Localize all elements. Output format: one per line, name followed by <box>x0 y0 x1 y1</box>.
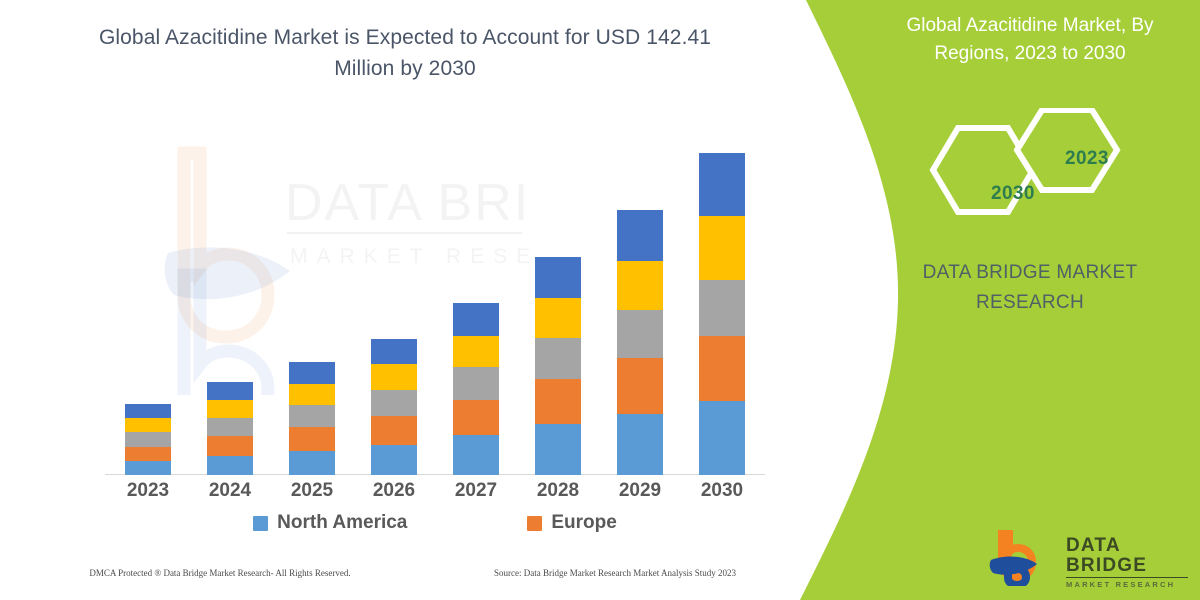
x-axis-label-2030: 2030 <box>685 480 759 502</box>
bar-segment <box>699 280 745 336</box>
footer: DMCA Protected ® Data Bridge Market Rese… <box>0 568 790 578</box>
bar-segment <box>617 261 663 310</box>
bar-segment <box>617 414 663 475</box>
bar-column <box>521 140 595 475</box>
bar-segment <box>289 451 335 475</box>
bar-segment <box>125 447 171 461</box>
data-bridge-logo: DATA BRIDGE MARKET RESEARCH <box>988 528 1198 586</box>
legend-label: Europe <box>551 512 616 534</box>
x-axis-label-2027: 2027 <box>439 480 513 502</box>
legend-item[interactable]: Europe <box>527 512 616 534</box>
x-axis-label-2028: 2028 <box>521 480 595 502</box>
bar-stack-2026 <box>371 339 417 475</box>
logo-name: DATA BRIDGE <box>1066 536 1198 576</box>
bar-stack-2023 <box>125 404 171 475</box>
bar-column <box>603 140 677 475</box>
bar-segment <box>617 358 663 414</box>
bar-segment <box>535 379 581 425</box>
hexagon-2023-label: 2023 <box>1065 148 1109 170</box>
brand-line-2: RESEARCH <box>870 288 1190 318</box>
bar-segment <box>371 339 417 364</box>
brand-name-block: DATA BRIDGE MARKET RESEARCH <box>870 258 1190 318</box>
bar-segment <box>207 382 253 400</box>
bar-segment <box>207 400 253 418</box>
bar-stack-2029 <box>617 210 663 475</box>
logo-mark <box>988 530 1060 586</box>
bar-segment <box>289 427 335 450</box>
bar-segment <box>289 362 335 383</box>
bar-column <box>111 140 185 475</box>
x-axis-label-2026: 2026 <box>357 480 431 502</box>
bar-stack-2024 <box>207 382 253 475</box>
bar-segment <box>617 210 663 261</box>
x-axis-labels: 20232024202520262027202820292030 <box>105 480 765 502</box>
bar-stack-2025 <box>289 362 335 475</box>
bar-column <box>275 140 349 475</box>
bar-segment <box>289 384 335 405</box>
bar-column <box>193 140 267 475</box>
bar-segment <box>207 418 253 436</box>
bar-segment <box>207 436 253 455</box>
bar-segment <box>289 405 335 427</box>
bar-segment <box>453 367 499 399</box>
bar-column <box>685 140 759 475</box>
bar-segment <box>371 390 417 416</box>
bar-segment <box>699 401 745 475</box>
x-axis-label-2024: 2024 <box>193 480 267 502</box>
bar-column <box>439 140 513 475</box>
hexagon-2030-label: 2030 <box>991 183 1035 205</box>
bar-segment <box>535 257 581 299</box>
bar-segment <box>699 216 745 280</box>
legend-swatch-icon <box>527 516 542 531</box>
page-title: Global Azacitidine Market is Expected to… <box>95 22 715 84</box>
logo-tagline: MARKET RESEARCH <box>1066 580 1198 589</box>
bar-segment <box>371 364 417 389</box>
chart-pane: Global Azacitidine Market is Expected to… <box>0 0 800 600</box>
bar-segment <box>371 445 417 475</box>
bar-segment <box>453 400 499 436</box>
bar-segment <box>453 303 499 335</box>
footer-dmca-text: DMCA Protected ® Data Bridge Market Rese… <box>0 568 440 578</box>
bar-chart <box>105 140 765 475</box>
bar-group <box>105 140 765 475</box>
bar-segment <box>535 338 581 379</box>
logo-divider <box>1066 577 1188 578</box>
right-panel-heading: Global Azacitidine Market, By Regions, 2… <box>870 12 1190 68</box>
bar-stack-2027 <box>453 303 499 475</box>
x-axis-label-2029: 2029 <box>603 480 677 502</box>
x-axis-label-2023: 2023 <box>111 480 185 502</box>
bar-segment <box>125 404 171 418</box>
legend-label: North America <box>277 512 407 534</box>
bar-segment <box>125 461 171 475</box>
brand-line-1: DATA BRIDGE MARKET <box>870 258 1190 288</box>
bar-segment <box>371 416 417 444</box>
right-panel: Global Azacitidine Market, By Regions, 2… <box>860 0 1200 600</box>
bar-column <box>357 140 431 475</box>
bar-segment <box>617 310 663 359</box>
bar-segment <box>535 298 581 338</box>
chart-legend: North AmericaEurope <box>105 512 765 534</box>
infographic-root: Global Azacitidine Market is Expected to… <box>0 0 1200 600</box>
hexagon-group: 2023 2030 <box>915 108 1155 226</box>
footer-source-text: Source: Data Bridge Market Research Mark… <box>440 568 790 578</box>
bar-stack-2028 <box>535 257 581 475</box>
legend-item[interactable]: North America <box>253 512 407 534</box>
legend-swatch-icon <box>253 516 268 531</box>
bar-segment <box>453 435 499 475</box>
bar-segment <box>699 153 745 216</box>
bar-segment <box>699 336 745 401</box>
bar-segment <box>453 336 499 367</box>
bar-segment <box>125 418 171 432</box>
bar-segment <box>535 424 581 475</box>
x-axis-label-2025: 2025 <box>275 480 349 502</box>
bar-segment <box>125 432 171 446</box>
logo-wordmark: DATA BRIDGE MARKET RESEARCH <box>1066 536 1198 589</box>
bar-stack-2030 <box>699 153 745 475</box>
bar-segment <box>207 456 253 475</box>
